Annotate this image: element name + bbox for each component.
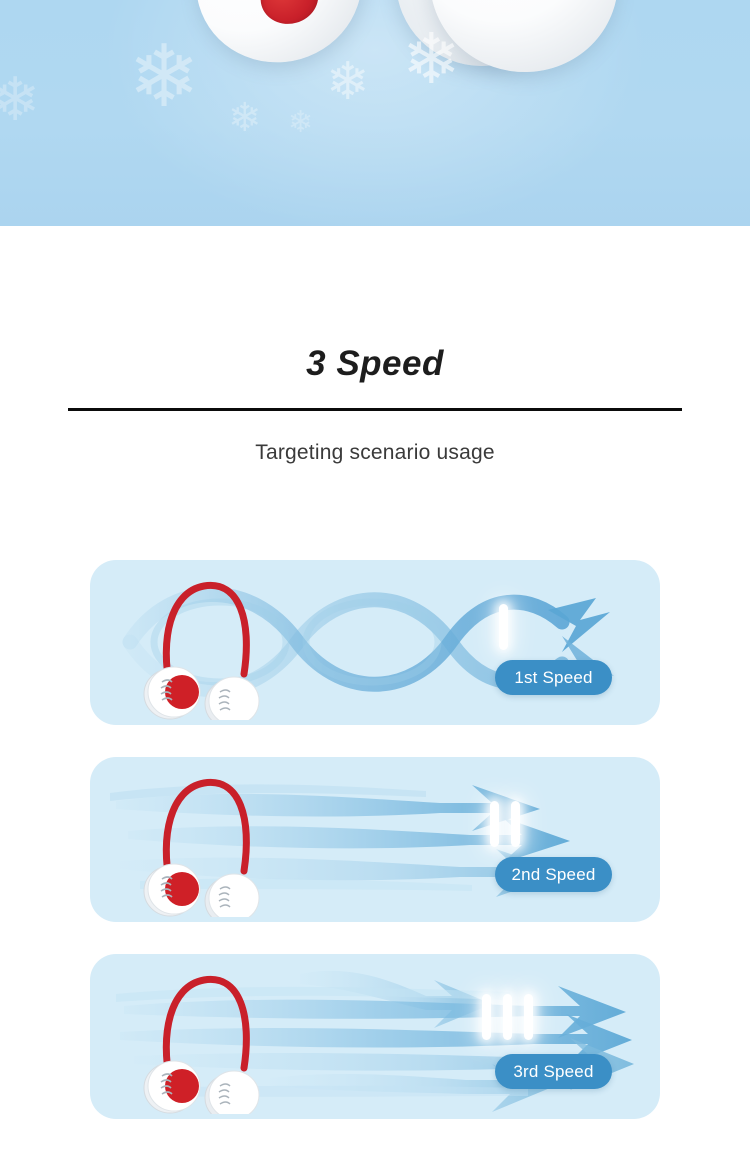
speed-pill-label: 2nd Speed xyxy=(511,865,595,885)
snowflake-icon: ❄ xyxy=(326,56,370,108)
speed-level-indicator xyxy=(490,801,520,847)
speed-bar xyxy=(482,994,491,1040)
speed-card-3[interactable]: 3rd Speed xyxy=(90,954,660,1119)
speed-pill-label: 3rd Speed xyxy=(513,1062,593,1082)
neck-fan-product-icon xyxy=(134,964,274,1114)
speed-pill-3[interactable]: 3rd Speed xyxy=(495,1054,612,1089)
snowflake-icon: ❄ xyxy=(402,24,461,94)
snowflake-icon: ❄ xyxy=(0,70,40,130)
speed-card-2[interactable]: 2nd Speed xyxy=(90,757,660,922)
speed-bar xyxy=(490,801,499,847)
snowflake-icon: ❄ xyxy=(228,98,262,138)
speed-pill-2[interactable]: 2nd Speed xyxy=(495,857,612,892)
neck-fan-product-icon xyxy=(134,570,274,720)
speed-bar xyxy=(503,994,512,1040)
speed-level-indicator xyxy=(499,604,508,650)
speed-bar xyxy=(524,994,533,1040)
snowflake-icon: ❄ xyxy=(128,34,200,120)
speed-card-list: 1st Speed xyxy=(90,560,660,1151)
speed-card-1[interactable]: 1st Speed xyxy=(90,560,660,725)
page-subtitle: Targeting scenario usage xyxy=(0,411,750,465)
speed-level-indicator xyxy=(482,994,533,1040)
title-section: 3 Speed Targeting scenario usage xyxy=(0,226,750,465)
snowflake-icon: ❄ xyxy=(288,108,313,138)
page-title: 3 Speed xyxy=(0,226,750,384)
speed-bar xyxy=(499,604,508,650)
neck-fan-product-icon xyxy=(134,767,274,917)
speed-pill-1[interactable]: 1st Speed xyxy=(495,660,612,695)
speed-bar xyxy=(511,801,520,847)
speed-pill-label: 1st Speed xyxy=(514,668,592,688)
hero-banner: ❄ ❄ ❄ ❄ ❄ ❄ xyxy=(0,0,750,226)
